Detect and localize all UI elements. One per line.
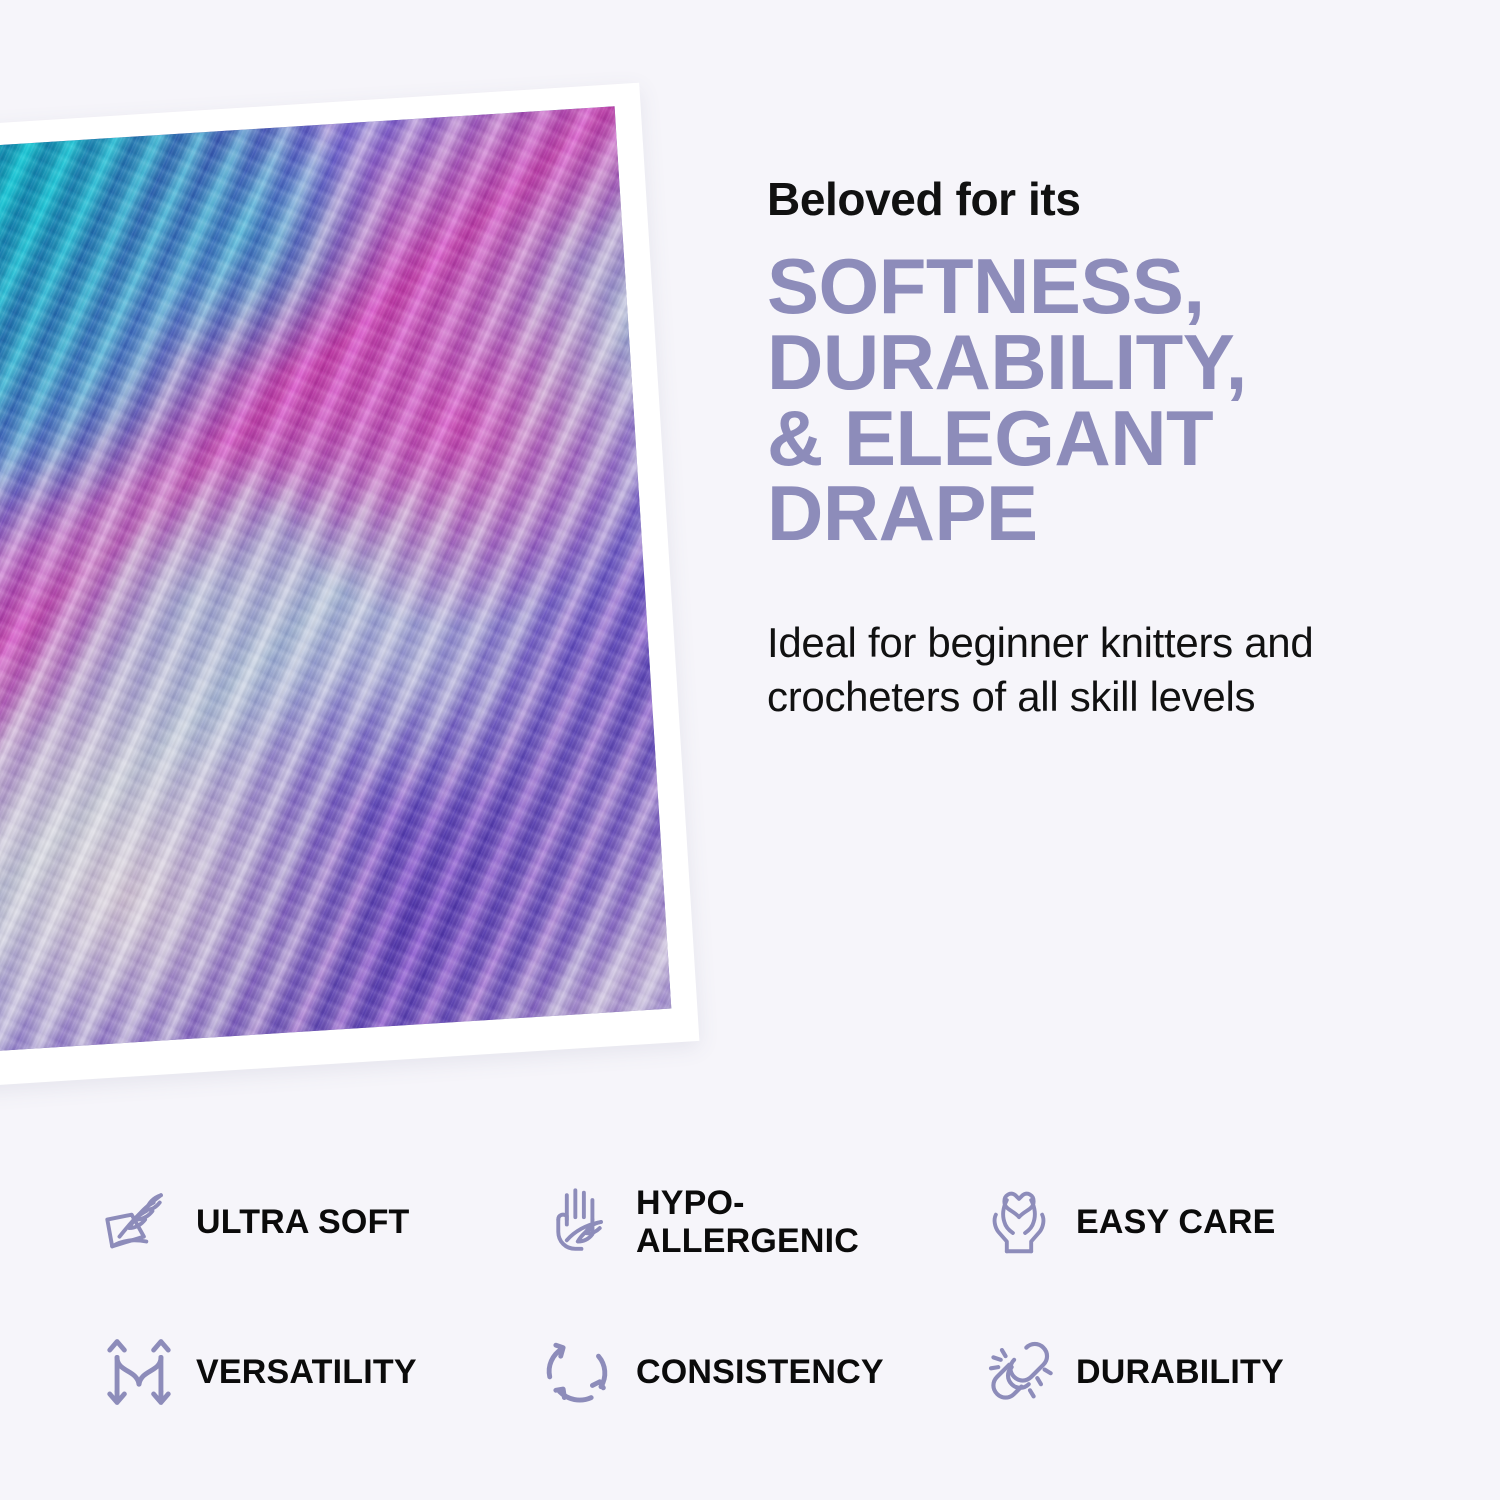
feather-on-cloth-icon — [100, 1183, 178, 1261]
feature-label: ULTRA SOFT — [196, 1203, 410, 1241]
feature-item-easy-care: EASY CARE — [980, 1152, 1420, 1292]
yarn-fuzz-texture — [0, 106, 671, 1051]
hand-with-feather-icon — [540, 1183, 618, 1261]
headline-line-4: DRAPE — [767, 476, 1427, 552]
photo-stage — [0, 105, 690, 1090]
feature-label: DURABILITY — [1076, 1353, 1284, 1391]
feature-item-hypo-allergenic: HYPO- ALLERGENIC — [540, 1152, 980, 1292]
headline-line-3: & ELEGANT — [767, 401, 1427, 477]
photo-frame — [0, 83, 699, 1088]
circular-arrows-icon — [540, 1333, 618, 1411]
headline-line-1: SOFTNESS, — [767, 249, 1427, 325]
feature-label: CONSISTENCY — [636, 1353, 884, 1391]
eyebrow-text: Beloved for its — [767, 175, 1427, 223]
yarn-closeup-photo — [0, 106, 671, 1051]
headline: SOFTNESS, DURABILITY, & ELEGANT DRAPE — [767, 249, 1427, 552]
feature-label: VERSATILITY — [196, 1353, 417, 1391]
feature-item-ultra-soft: ULTRA SOFT — [100, 1152, 540, 1292]
subcopy-text: Ideal for beginner knitters and crochete… — [767, 616, 1415, 724]
feature-item-consistency: CONSISTENCY — [540, 1302, 980, 1442]
four-way-arrows-icon — [100, 1333, 178, 1411]
feature-label: EASY CARE — [1076, 1203, 1276, 1241]
hero-text-column: Beloved for its SOFTNESS, DURABILITY, & … — [767, 175, 1427, 723]
hands-holding-heart-icon — [980, 1183, 1058, 1261]
feature-label: HYPO- ALLERGENIC — [636, 1184, 859, 1260]
chain-link-icon — [980, 1333, 1058, 1411]
feature-item-versatility: VERSATILITY — [100, 1302, 540, 1442]
feature-item-durability: DURABILITY — [980, 1302, 1420, 1442]
headline-line-2: DURABILITY, — [767, 325, 1427, 401]
feature-grid: ULTRA SOFT HYPO- ALLERGENIC — [100, 1152, 1420, 1442]
